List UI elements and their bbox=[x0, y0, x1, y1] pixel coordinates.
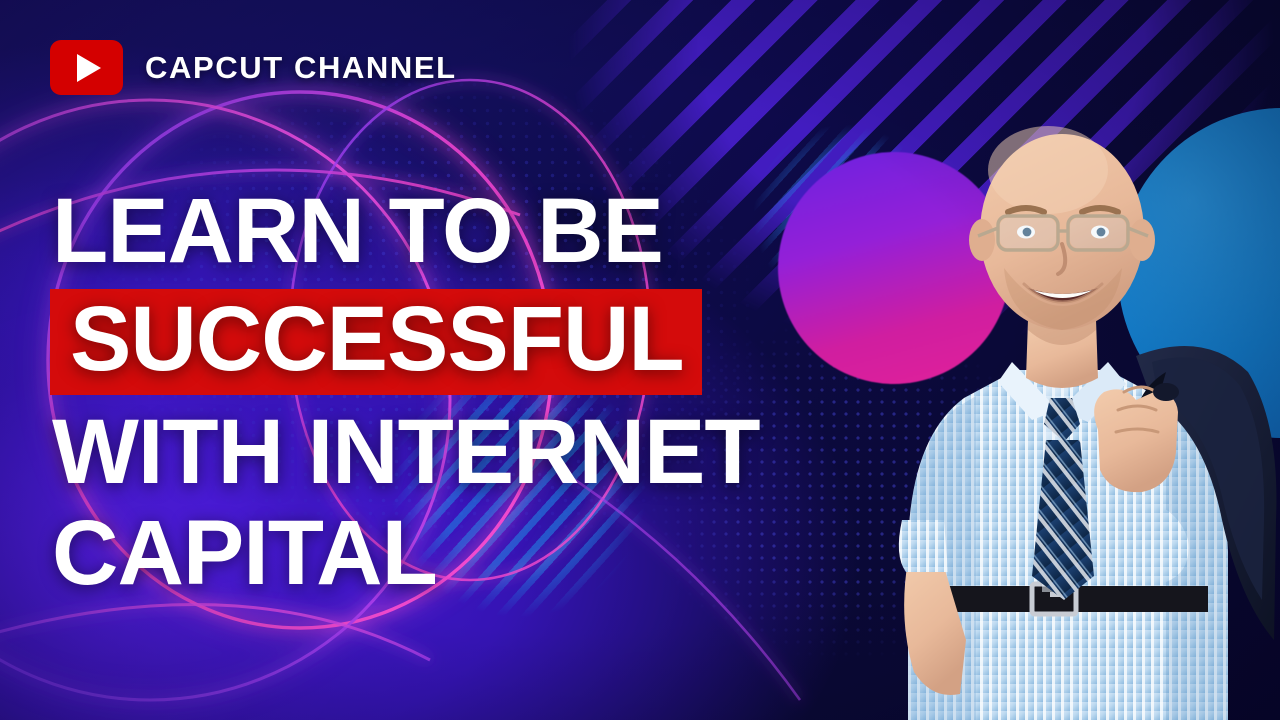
channel-name-label: CAPCUT CHANNEL bbox=[145, 50, 457, 86]
headline-highlight-row: SUCCESSFUL bbox=[52, 289, 912, 395]
youtube-thumbnail: CAPCUT CHANNEL LEARN TO BE SUCCESSFUL WI… bbox=[0, 0, 1280, 720]
play-icon[interactable] bbox=[50, 40, 123, 95]
headline-line-3: WITH INTERNET bbox=[52, 407, 912, 497]
channel-badge[interactable]: CAPCUT CHANNEL bbox=[50, 40, 457, 95]
headline-line-2-highlighted: SUCCESSFUL bbox=[50, 289, 702, 395]
headline-line-1: LEARN TO BE bbox=[52, 186, 912, 276]
play-triangle-glyph bbox=[77, 54, 101, 82]
headline-line-4: CAPITAL bbox=[52, 508, 912, 598]
headline-block: LEARN TO BE SUCCESSFUL WITH INTERNET CAP… bbox=[52, 186, 912, 598]
